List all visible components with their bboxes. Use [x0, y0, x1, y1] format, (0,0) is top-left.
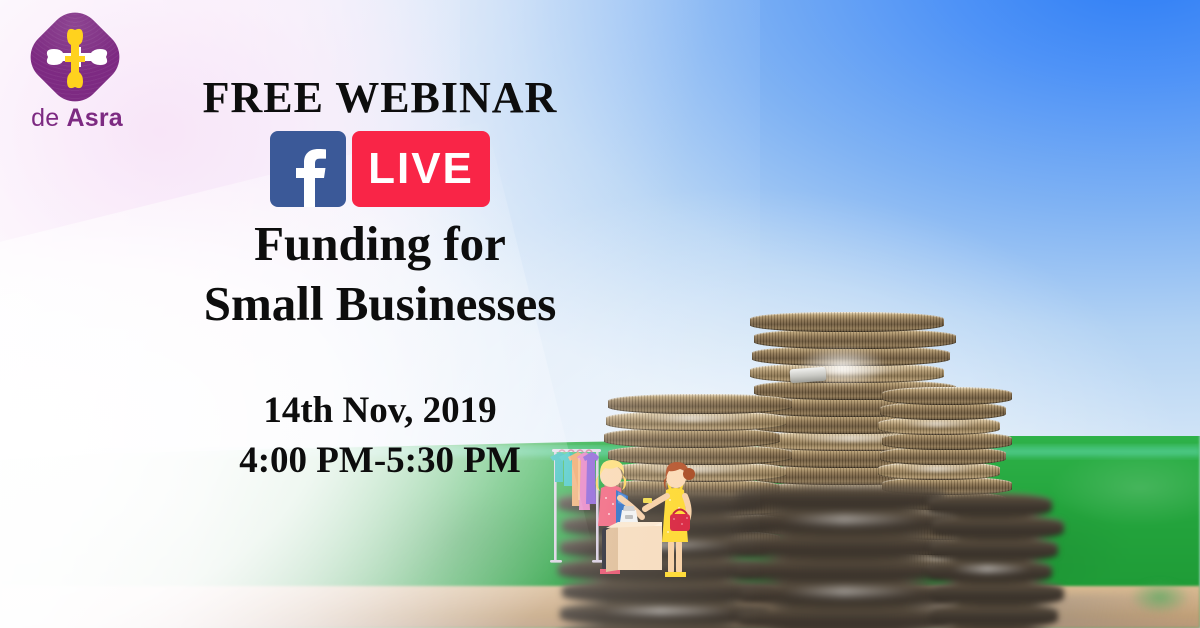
coin-ridges: [736, 485, 946, 512]
event-time: 4:00 PM-5:30 PM: [0, 436, 760, 486]
coin: [930, 537, 1058, 562]
coin: [932, 581, 1064, 606]
coin: [928, 493, 1052, 518]
coin: [928, 559, 1052, 584]
coin: [740, 581, 958, 608]
coin: [738, 533, 952, 560]
coin: [738, 605, 952, 628]
coin-highlight: [779, 515, 923, 524]
coin-stack-top-chip: [790, 367, 827, 383]
coin-ridges: [930, 537, 1058, 562]
title-line-2: Small Businesses: [0, 274, 760, 334]
coin-ridges: [928, 493, 1052, 518]
coin-stack-foreground-middle: [738, 478, 952, 628]
coin-ridges: [930, 603, 1058, 628]
coin-highlight: [950, 565, 1032, 574]
coin-highlight: [779, 587, 923, 596]
coin-ridges: [736, 557, 946, 584]
coin: [740, 509, 958, 536]
facebook-live-badge-row: LIVE: [0, 131, 760, 207]
webinar-banner: de Asra FREE WEBINAR LIVE Funding for Sm…: [0, 0, 1200, 628]
live-badge[interactable]: LIVE: [352, 131, 490, 207]
page-title: Funding for Small Businesses: [0, 214, 760, 334]
coin: [736, 557, 946, 584]
coin-ridges: [738, 605, 952, 628]
coin-stack-foreground-right: [930, 486, 1058, 628]
title-line-1: Funding for: [0, 214, 760, 274]
coin: [932, 515, 1064, 540]
coin-ridges: [882, 387, 1012, 405]
eyebrow-free-webinar: FREE WEBINAR: [0, 72, 760, 123]
coin-ridges: [750, 312, 944, 332]
coin-ridges: [738, 533, 952, 560]
coin: [930, 603, 1058, 628]
event-date: 14th Nov, 2019: [0, 386, 760, 436]
event-schedule: 14th Nov, 2019 4:00 PM-5:30 PM: [0, 386, 760, 487]
coin: [736, 485, 946, 512]
coin: [750, 312, 944, 332]
coin: [882, 387, 1012, 405]
coin-ridges: [932, 515, 1064, 540]
facebook-f-icon[interactable]: [270, 131, 346, 207]
coin-ridges: [932, 581, 1064, 606]
